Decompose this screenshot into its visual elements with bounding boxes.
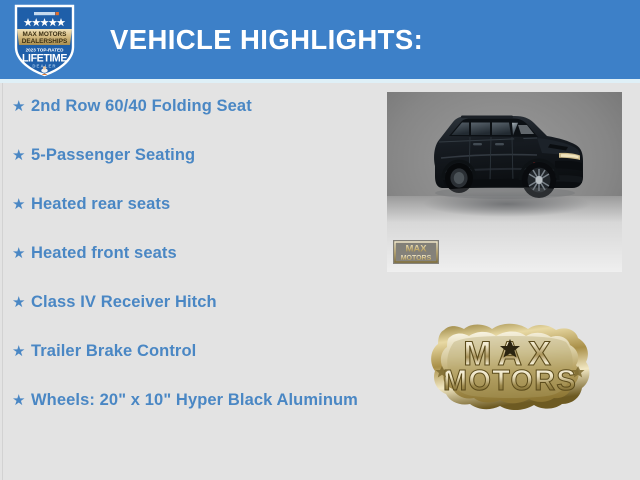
list-item: ★ 5-Passenger Seating [8, 145, 368, 167]
svg-text:MAX: MAX [405, 244, 427, 255]
star-bullet-icon: ★ [8, 243, 31, 265]
star-bullet-icon: ★ [8, 194, 31, 216]
svg-text:DEALERSHIPS: DEALERSHIPS [22, 38, 68, 45]
list-item: ★ Class IV Receiver Hitch [8, 292, 368, 314]
page-header: MAX MOTORS DEALERSHIPS 2023 TOP-RATED LI… [0, 0, 640, 79]
svg-text:MAX MOTORS: MAX MOTORS [23, 31, 68, 38]
list-item: ★ Heated rear seats [8, 194, 368, 216]
vehicle-photo[interactable]: MAX MOTORS [387, 92, 622, 272]
left-edge-rule [2, 83, 3, 480]
star-bullet-icon: ★ [8, 96, 31, 118]
list-item: ★ Trailer Brake Control [8, 341, 368, 363]
list-item-label: 5-Passenger Seating [31, 145, 368, 166]
list-item-label: Trailer Brake Control [31, 341, 368, 362]
list-item-label: Class IV Receiver Hitch [31, 292, 368, 313]
list-item: ★ 2nd Row 60/40 Folding Seat [8, 96, 368, 118]
list-item-label: Wheels: 20" x 10" Hyper Black Aluminum [31, 390, 368, 411]
max-motors-logo: MAX MOTORS [424, 320, 596, 414]
star-bullet-icon: ★ [8, 341, 31, 363]
page-title: VEHICLE HIGHLIGHTS: [110, 24, 423, 56]
list-item: ★ Wheels: 20" x 10" Hyper Black Aluminum [8, 390, 368, 412]
star-bullet-icon: ★ [8, 292, 31, 314]
list-item: ★ Heated front seats [8, 243, 368, 265]
list-item-label: 2nd Row 60/40 Folding Seat [31, 96, 368, 117]
svg-text:MOTORS: MOTORS [443, 365, 577, 397]
list-item-label: Heated rear seats [31, 194, 368, 215]
svg-text:MOTORS: MOTORS [401, 255, 432, 262]
star-bullet-icon: ★ [8, 145, 31, 167]
list-item-label: Heated front seats [31, 243, 368, 264]
carfax-top-rated-dealer-badge: MAX MOTORS DEALERSHIPS 2023 TOP-RATED LI… [13, 3, 76, 77]
vehicle-highlights-list: ★ 2nd Row 60/40 Folding Seat ★ 5-Passeng… [8, 96, 368, 439]
star-bullet-icon: ★ [8, 390, 31, 412]
